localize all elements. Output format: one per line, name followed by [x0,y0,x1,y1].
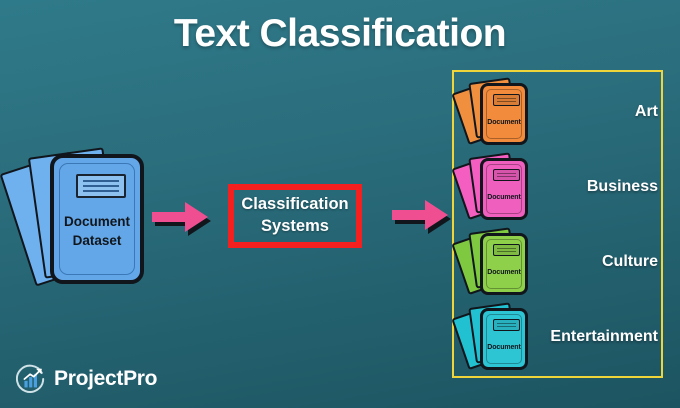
classification-systems-label: Classification Systems [241,194,348,238]
doc-lines-icon [493,319,520,331]
doc-lines-icon [493,169,520,181]
classification-label-line1: Classification [241,195,348,213]
arrow-classifier-to-categories-icon [392,198,448,232]
category-label-entertainment: Entertainment [531,328,665,346]
category-panel: Document Art Document Business [452,70,663,378]
infographic-canvas: Text Classification Document Dataset [0,0,680,408]
dataset-label-line1: Document [64,214,130,229]
classification-systems-box: Classification Systems [228,184,362,248]
document-icon-art: Document [459,78,531,146]
document-icon-entertainment: Document [459,303,531,371]
doc-front-icon: Document [480,233,528,295]
category-row-art: Document Art [454,76,665,148]
doc-lines-icon [493,94,520,106]
doc-caption: Document [483,269,525,276]
document-icon-business: Document [459,153,531,221]
arrow-body [392,198,448,232]
classification-label-line2: Systems [261,217,329,235]
category-label-art: Art [531,103,665,121]
doc-lines-icon [493,244,520,256]
dataset-card-icon: Document Dataset [50,154,144,284]
doc-caption: Document [483,194,525,201]
category-row-entertainment: Document Entertainment [454,301,665,373]
category-row-business: Document Business [454,151,665,223]
page-title: Text Classification [0,12,680,56]
document-icon-culture: Document [459,228,531,296]
dataset-lines-icon [76,174,126,198]
doc-caption: Document [483,119,525,126]
brand-name: ProjectPro [54,367,157,391]
doc-front-icon: Document [480,308,528,370]
arrow-body [152,200,208,234]
category-label-culture: Culture [531,253,665,271]
doc-front-icon: Document [480,158,528,220]
arrow-dataset-to-classifier-icon [152,200,208,234]
category-row-culture: Document Culture [454,226,665,298]
chart-arrow-circle-icon [16,364,46,394]
brand-logo: ProjectPro [16,364,157,394]
category-label-business: Business [531,178,665,196]
document-dataset-graphic: Document Dataset [14,148,154,292]
dataset-label: Document Dataset [54,212,140,250]
doc-front-icon: Document [480,83,528,145]
dataset-label-line2: Dataset [73,233,122,248]
doc-caption: Document [483,344,525,351]
